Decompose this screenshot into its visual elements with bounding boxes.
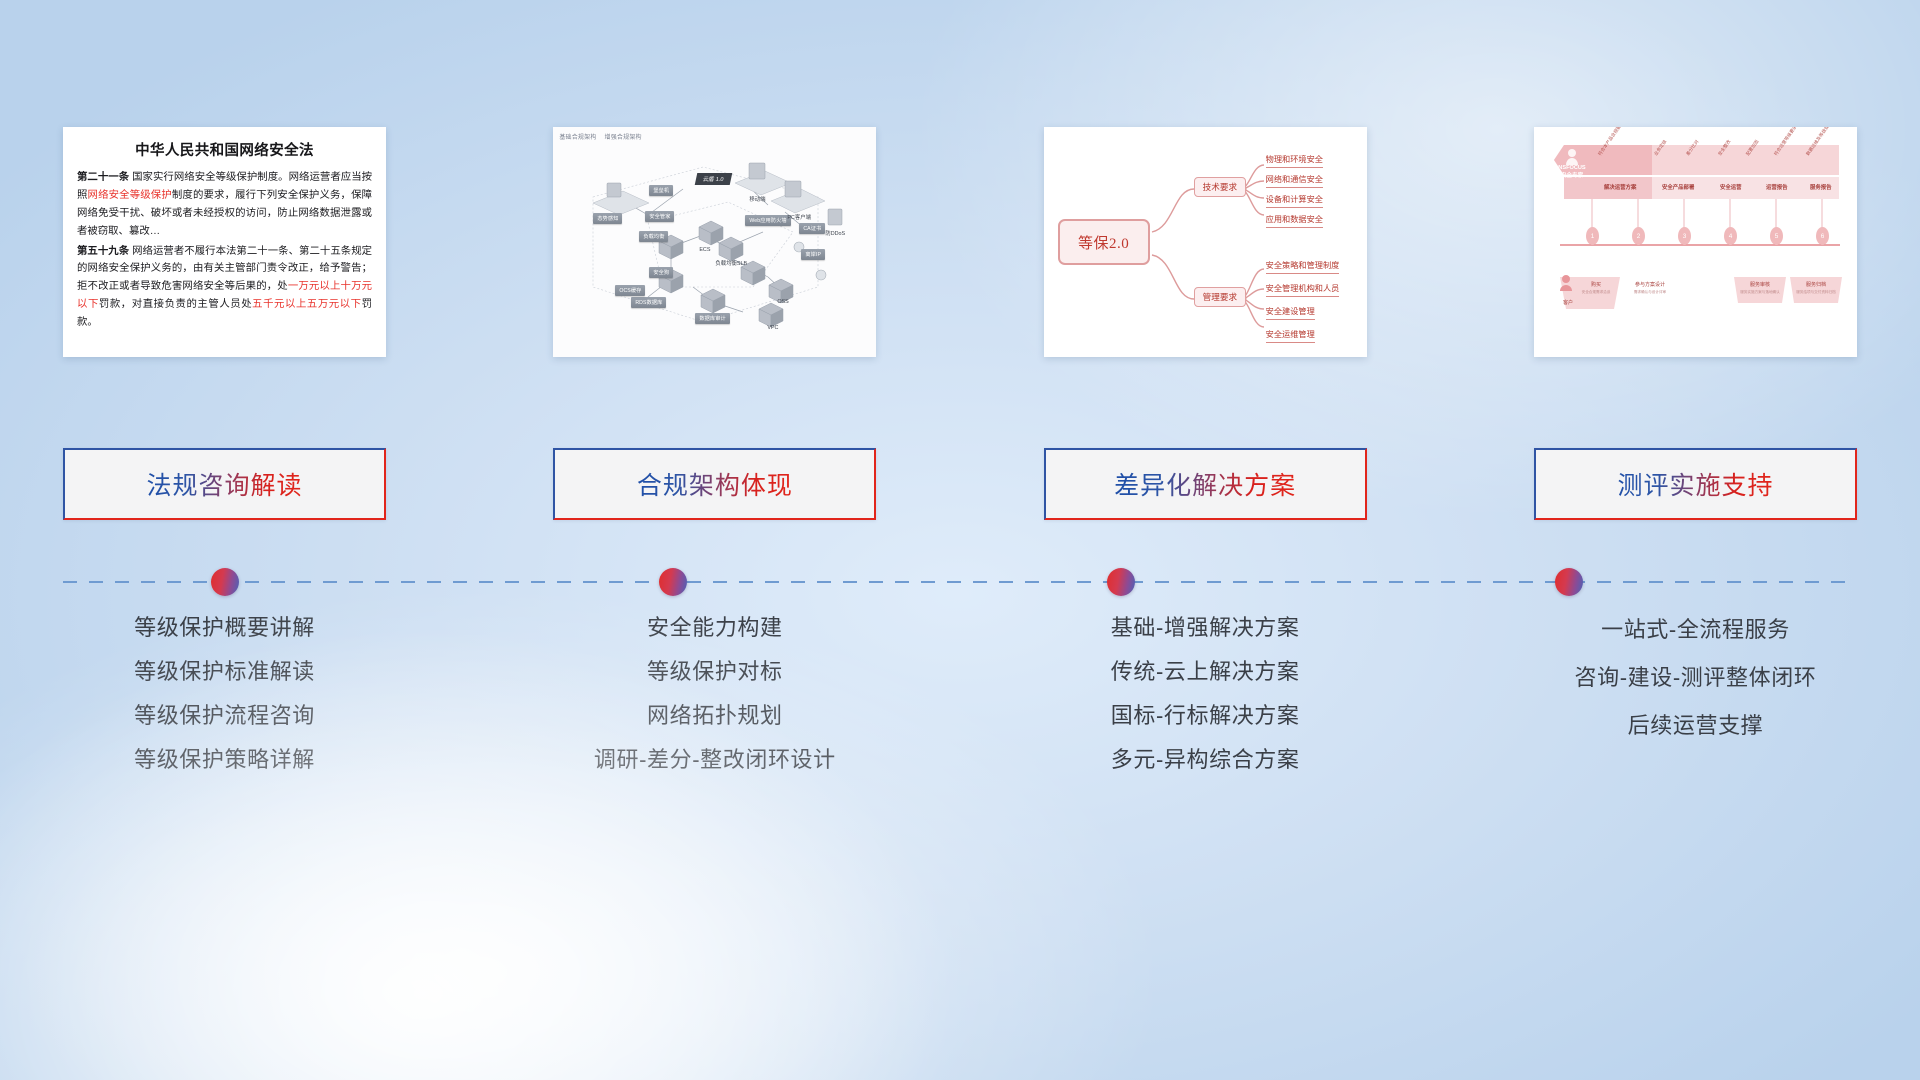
timeline-dot-4[interactable] <box>1555 568 1583 596</box>
card-mindmap-dengbao: 等保2.0 技术要求 管理要求 物理和环境安全 网络和通信安全 设备和计算安全 … <box>1044 127 1367 357</box>
slide-canvas: 中华人民共和国网络安全法 第二十一条 国家实行网络安全等级保护制度。网络运营者应… <box>0 0 1920 1080</box>
architecture-label-vpc: VPC <box>767 325 778 331</box>
mindmap-leaf-network-comm: 网络和通信安全 <box>1266 173 1323 188</box>
list-item: 等级保护策略详解 <box>63 738 386 782</box>
detail-column-3: 基础-增强解决方案 传统-云上解决方案 国标-行标解决方案 多元-异构综合方案 <box>1044 600 1367 782</box>
mindmap-leaf-policy-system: 安全策略和管理制度 <box>1266 259 1340 274</box>
roadmap-footer-3: 服务审核 服务实施方案与落地确认 <box>1736 281 1784 295</box>
mindmap-leaf-org-personnel: 安全管理机构和人员 <box>1266 282 1340 297</box>
list-item: 咨询-建设-测评整体闭环 <box>1534 654 1857 702</box>
roadmap-footer-3-label: 服务审核 <box>1750 282 1770 288</box>
list-item: 传统-云上解决方案 <box>1044 650 1367 694</box>
heading-label-3: 差异化解决方案 <box>1114 466 1296 502</box>
list-item: 国标-行标解决方案 <box>1044 694 1367 738</box>
architecture-label-pc-client: PC客户端 <box>787 213 811 221</box>
card-compliance-architecture: 基础合规架构增强合规架构 <box>553 127 876 357</box>
card-service-roadmap: NSFOCUS 安全专家 符合本产品合规要求的业务 业务定级 差分比对 安全整改… <box>1534 127 1857 357</box>
roadmap-footer-3-sub: 服务实施方案与落地确认 <box>1736 290 1784 295</box>
list-item: 等级保护流程咨询 <box>63 694 386 738</box>
architecture-label-oss: OSS <box>777 299 788 305</box>
roadmap-step-3: 3 <box>1678 227 1691 245</box>
architecture-node-security-dog: 安全狗 <box>649 267 673 278</box>
timeline <box>63 568 1857 596</box>
mindmap-root-node: 等保2.0 <box>1058 219 1150 265</box>
list-item: 等级保护概要讲解 <box>63 606 386 650</box>
architecture-node-ocs-cache: OCS缓存 <box>615 285 645 296</box>
timeline-dashed-line <box>63 581 1857 583</box>
roadmap-step-1: 1 <box>1586 227 1599 245</box>
architecture-node-load-balancer: 负载均衡 <box>639 231 668 242</box>
roadmap-brand: NSFOCUS 安全专家 <box>1550 165 1594 180</box>
architecture-label-anti-ddos: 防DDoS <box>825 229 845 237</box>
detail-column-1: 等级保护概要讲解 等级保护标准解读 等级保护流程咨询 等级保护策略详解 <box>63 600 386 782</box>
preview-card-row: 中华人民共和国网络安全法 第二十一条 国家实行网络安全等级保护制度。网络运营者应… <box>63 127 1857 357</box>
roadmap-band-label-2: 安全产品部署 <box>1662 183 1694 191</box>
law-article-21-label: 第二十一条 <box>77 172 129 183</box>
mindmap-leaf-app-data: 应用和数据安全 <box>1266 213 1323 228</box>
list-item: 调研-差分-整改闭环设计 <box>553 738 876 782</box>
list-item: 一站式-全流程服务 <box>1534 606 1857 654</box>
list-item: 安全能力构建 <box>553 606 876 650</box>
list-item: 多元-异构综合方案 <box>1044 738 1367 782</box>
heading-box-row: 法规咨询解读 合规架构体现 差异化解决方案 测评实施支持 <box>63 448 1857 520</box>
roadmap-graphics <box>1534 127 1857 357</box>
roadmap-band-label-4: 运营报告 <box>1766 183 1788 191</box>
architecture-node-security-butler: 安全管家 <box>645 211 674 222</box>
timeline-dot-3[interactable] <box>1107 568 1135 596</box>
detail-column-4: 一站式-全流程服务 咨询-建设-测评整体闭环 后续运营支撑 <box>1534 600 1857 782</box>
card-cybersecurity-law: 中华人民共和国网络安全法 第二十一条 国家实行网络安全等级保护制度。网络运营者应… <box>63 127 386 357</box>
architecture-label-ecs: ECS <box>699 247 710 253</box>
roadmap-footer-2: 参与方案设计 需求确认与设计评审 <box>1622 281 1678 295</box>
list-item: 等级保护标准解读 <box>63 650 386 694</box>
law-article-59: 第五十九条 网络运营者不履行本法第二十一条、第二十五条规定的网络安全保护义务的，… <box>77 243 372 332</box>
roadmap-brand-name: NSFOCUS <box>1558 165 1585 171</box>
architecture-node-situation-awareness: 态势感知 <box>593 213 622 224</box>
heading-label-1: 法规咨询解读 <box>146 466 302 502</box>
law-article-59-label: 第五十九条 <box>77 246 129 257</box>
roadmap-footer-4-sub: 服务结项与交付资料归档 <box>1792 290 1840 295</box>
roadmap-footer-1: 购买 安全合规需求洽谈 <box>1574 281 1618 295</box>
roadmap-step-6: 6 <box>1816 227 1829 245</box>
roadmap-footer-2-sub: 需求确认与设计评审 <box>1622 290 1678 295</box>
architecture-node-ca-cert: CA证书 <box>799 223 825 234</box>
roadmap-footer-2-label: 参与方案设计 <box>1635 282 1665 288</box>
law-title: 中华人民共和国网络安全法 <box>77 139 372 160</box>
detail-column-2: 安全能力构建 等级保护对标 网络拓扑规划 调研-差分-整改闭环设计 <box>553 600 876 782</box>
roadmap-band-label-3: 安全运营 <box>1720 183 1742 191</box>
heading-box-assessment-support[interactable]: 测评实施支持 <box>1534 448 1857 520</box>
heading-box-differentiated-solution[interactable]: 差异化解决方案 <box>1044 448 1367 520</box>
architecture-node-cloud-shield: 云盾 1.0 <box>695 173 732 185</box>
architecture-node-bastion: 堡垒机 <box>649 185 673 196</box>
roadmap-step-5: 5 <box>1770 227 1783 245</box>
mindmap-leaf-physical-env: 物理和环境安全 <box>1266 153 1323 168</box>
law-article-59-fine-2: 五千元以上五万元以下 <box>252 299 361 310</box>
heading-label-4: 测评实施支持 <box>1617 466 1773 502</box>
heading-box-compliance-architecture[interactable]: 合规架构体现 <box>553 448 876 520</box>
roadmap-footer-1-label: 购买 <box>1591 282 1601 288</box>
timeline-dot-2[interactable] <box>659 568 687 596</box>
mindmap-leaf-construction-mgmt: 安全建设管理 <box>1266 305 1315 320</box>
mindmap-leaf-ops-mgmt: 安全运维管理 <box>1266 328 1315 343</box>
mindmap-branch-management: 管理要求 <box>1194 287 1246 307</box>
list-item: 后续运营支撑 <box>1534 702 1857 750</box>
law-article-59-text-b: 罚款，对直接负责的主管人员处 <box>99 299 252 310</box>
list-item: 等级保护对标 <box>553 650 876 694</box>
architecture-node-rds: RDS数据库 <box>631 297 666 308</box>
list-item: 基础-增强解决方案 <box>1044 606 1367 650</box>
timeline-dot-1[interactable] <box>211 568 239 596</box>
roadmap-band-label-1: 解决运营方案 <box>1604 183 1636 191</box>
roadmap-band-label-5: 服务报告 <box>1810 183 1832 191</box>
law-article-21: 第二十一条 国家实行网络安全等级保护制度。网络运营者应当按照网络安全等级保护制度… <box>77 169 372 241</box>
detail-list-row: 等级保护概要讲解 等级保护标准解读 等级保护流程咨询 等级保护策略详解 安全能力… <box>63 600 1857 782</box>
heading-label-2: 合规架构体现 <box>637 466 793 502</box>
roadmap-footer-4-label: 服务归档 <box>1806 282 1826 288</box>
list-item: 网络拓扑规划 <box>553 694 876 738</box>
architecture-node-offshore-ip: 离岸IP <box>801 249 825 260</box>
architecture-node-waf: Web应用防火墙 <box>745 215 790 226</box>
roadmap-client-label: 客户 <box>1554 299 1582 306</box>
law-article-21-highlight: 网络安全等级保护 <box>88 190 172 201</box>
roadmap-footer-1-sub: 安全合规需求洽谈 <box>1574 290 1618 295</box>
architecture-node-db-audit: 数据库审计 <box>695 313 729 324</box>
architecture-label-mobile: 移动端 <box>749 195 765 203</box>
roadmap-step-2: 2 <box>1632 227 1645 245</box>
roadmap-footer-4: 服务归档 服务结项与交付资料归档 <box>1792 281 1840 295</box>
roadmap-step-4: 4 <box>1724 227 1737 245</box>
mindmap-branch-technical: 技术要求 <box>1194 177 1246 197</box>
architecture-label-slb: 负载均衡SLB <box>715 259 747 267</box>
heading-box-regulation-consulting[interactable]: 法规咨询解读 <box>63 448 386 520</box>
mindmap-leaf-device-compute: 设备和计算安全 <box>1266 193 1323 208</box>
roadmap-brand-sub: 安全专家 <box>1561 173 1583 179</box>
